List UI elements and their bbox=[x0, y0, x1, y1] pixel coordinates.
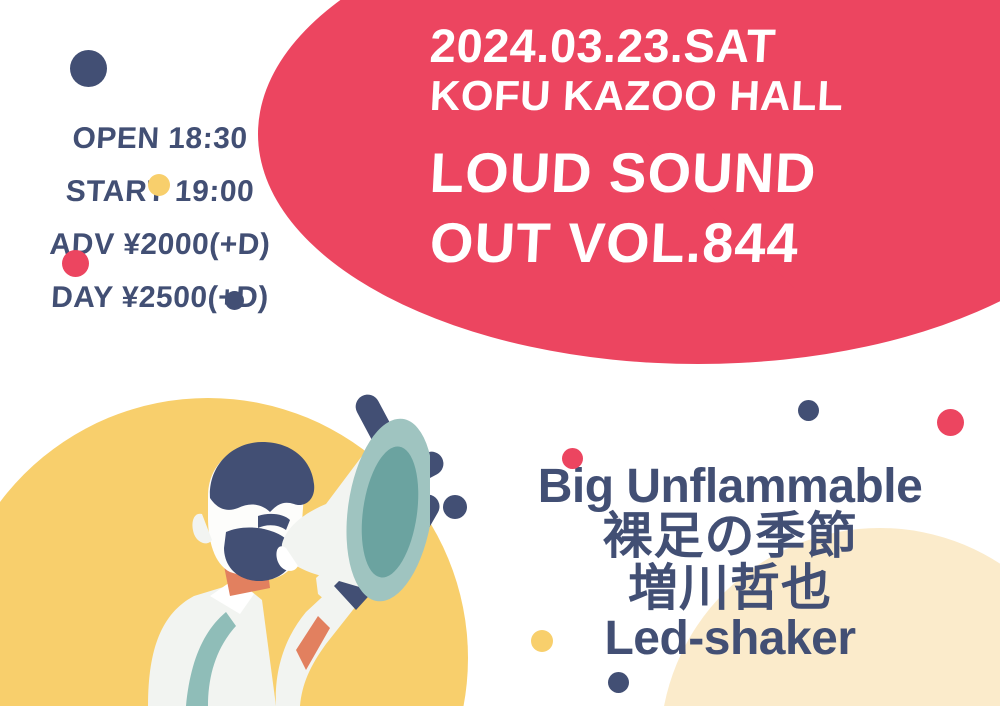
megaphone-illustration bbox=[90, 400, 430, 706]
decorative-dot-red bbox=[62, 250, 89, 277]
event-details: OPEN 18:30 START 19:00 ADV ¥2000(+D) DAY… bbox=[20, 124, 300, 336]
decorative-dot-red bbox=[562, 448, 583, 469]
decorative-dot-navy bbox=[70, 50, 107, 87]
hair-icon bbox=[210, 442, 314, 512]
decorative-dot-yellow bbox=[531, 630, 553, 652]
decorative-dot-yellow bbox=[148, 174, 170, 196]
decorative-dot-red bbox=[937, 409, 964, 436]
decorative-dot-navy bbox=[443, 495, 467, 519]
artist-name-3: 増川哲也 bbox=[470, 563, 990, 615]
artist-name-2: 裸足の季節 bbox=[470, 511, 990, 563]
event-title-line2: OUT VOL.844 bbox=[429, 215, 972, 271]
adv-price-line: ADV ¥2000(+D) bbox=[19, 230, 301, 260]
decorative-dot-navy bbox=[225, 291, 244, 310]
artist-name-1: Big Unflammable bbox=[470, 462, 990, 511]
event-header: 2024.03.23.SAT KOFU KAZOO HALL LOUD SOUN… bbox=[430, 22, 970, 271]
open-time-line: OPEN 18:30 bbox=[19, 124, 301, 154]
event-venue: KOFU KAZOO HALL bbox=[429, 75, 971, 117]
event-flyer: 2024.03.23.SAT KOFU KAZOO HALL LOUD SOUN… bbox=[0, 0, 1000, 706]
decorative-dot-navy bbox=[798, 400, 819, 421]
decorative-dot-navy bbox=[608, 672, 629, 693]
event-date: 2024.03.23.SAT bbox=[429, 22, 971, 69]
day-price-line: DAY ¥2500(+D) bbox=[19, 283, 301, 313]
event-title-line1: LOUD SOUND bbox=[429, 145, 972, 201]
